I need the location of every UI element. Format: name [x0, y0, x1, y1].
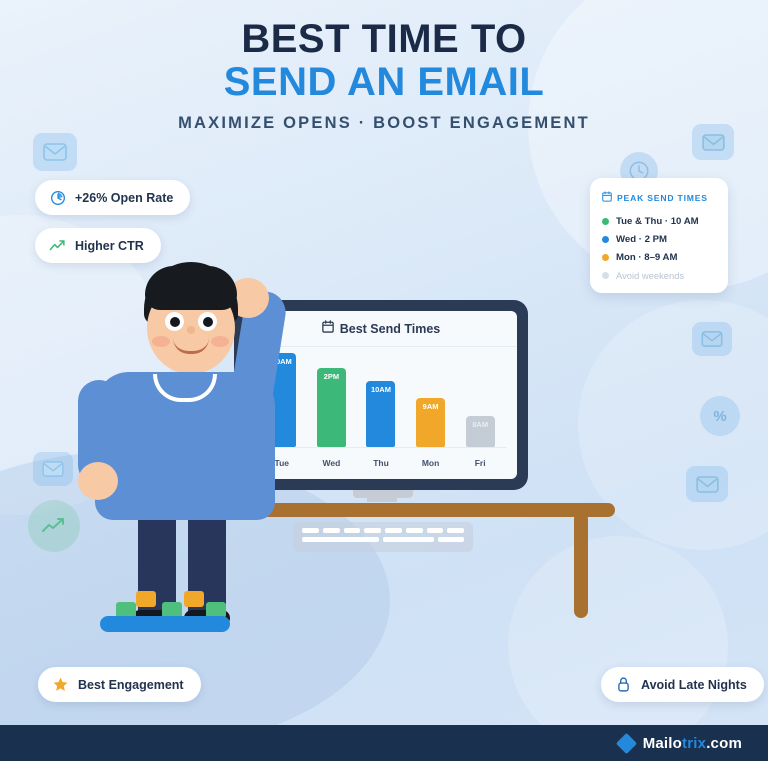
- keyboard-key: [364, 528, 381, 533]
- mail-icon: [686, 466, 728, 502]
- brand-part-2: trix: [682, 735, 706, 752]
- legend-dot: [602, 236, 609, 243]
- keyboard-key: [406, 528, 423, 533]
- background-blob-bottom-right: [508, 536, 728, 756]
- title-line-1: BEST TIME TO: [0, 18, 768, 61]
- platform-block: [184, 591, 204, 607]
- keyboard: [293, 522, 473, 552]
- trend-up-icon: [49, 237, 66, 254]
- brand-diamond-icon: [616, 732, 637, 753]
- peak-card-header: PEAK SEND TIMES: [602, 189, 716, 207]
- peak-row: Tue & Thu · 10 AM: [602, 216, 716, 227]
- peak-row-label: Avoid weekends: [616, 270, 684, 281]
- brand-part-1: Mailo: [643, 735, 682, 752]
- keyboard-key: [383, 537, 434, 542]
- keyboard-row: [302, 537, 464, 542]
- keyboard-key: [427, 528, 444, 533]
- legend-dot: [602, 218, 609, 225]
- bar-fri: 8AM: [466, 416, 495, 447]
- desk-leg: [574, 512, 588, 618]
- infographic-canvas: BEST TIME TO SEND AN EMAIL MAXIMIZE OPEN…: [0, 0, 768, 761]
- character-nose: [187, 326, 195, 334]
- peak-card-title: PEAK SEND TIMES: [617, 193, 708, 203]
- bar-column: 9AM: [414, 353, 448, 447]
- percent-glyph: %: [713, 408, 726, 425]
- keyboard-key: [447, 528, 464, 533]
- badge-best-engagement[interactable]: Best Engagement: [38, 667, 201, 702]
- platform-block: [136, 591, 156, 607]
- percent-icon: %: [700, 396, 740, 436]
- badge-higher-ctr[interactable]: Higher CTR: [35, 228, 161, 263]
- character-left-hand: [78, 462, 118, 500]
- badge-label: Avoid Late Nights: [641, 678, 747, 692]
- bar-value-label: 10AM: [371, 385, 391, 447]
- keyboard-row: [302, 528, 464, 533]
- mail-icon: [33, 133, 77, 171]
- bar-thu: 10AM: [366, 381, 395, 447]
- badge-label: Higher CTR: [75, 239, 144, 253]
- peak-row: Wed · 2 PM: [602, 234, 716, 245]
- bar-value-label: 9AM: [423, 402, 439, 447]
- keyboard-key: [438, 537, 464, 542]
- character-cheek-right: [211, 336, 229, 347]
- brand-wordmark: Mailotrix.com: [643, 735, 742, 752]
- character-eye-right: [198, 312, 217, 331]
- character-hair-top: [145, 266, 237, 310]
- character-eye-left: [165, 312, 184, 331]
- peak-row-label: Mon · 8–9 AM: [616, 252, 677, 263]
- badge-open-rate[interactable]: +26% Open Rate: [35, 180, 190, 215]
- peak-row-label: Wed · 2 PM: [616, 234, 667, 245]
- character-cheek-left: [152, 336, 170, 347]
- bar-value-label: 2PM: [324, 372, 339, 447]
- platform-base: [100, 616, 230, 632]
- keyboard-key: [344, 528, 361, 533]
- category-label: Wed: [322, 458, 340, 468]
- mail-icon: [33, 452, 73, 486]
- bar-column: 10AM: [364, 353, 398, 447]
- bar-column: 8AM: [463, 353, 497, 447]
- category-label: Thu: [373, 458, 389, 468]
- keyboard-key: [385, 528, 402, 533]
- category-label: Mon: [422, 458, 439, 468]
- lock-icon: [615, 676, 632, 693]
- bar-value-label: 8AM: [472, 420, 488, 447]
- footer-bar: Mailotrix.com: [0, 725, 768, 761]
- peak-row: Mon · 8–9 AM: [602, 252, 716, 263]
- category-label: Fri: [475, 458, 486, 468]
- calendar-icon: [322, 320, 334, 338]
- badge-label: Best Engagement: [78, 678, 184, 692]
- badge-label: +26% Open Rate: [75, 191, 173, 205]
- brand-part-3: .com: [706, 735, 742, 752]
- bar-wed: 2PM: [317, 368, 346, 447]
- keyboard-key: [323, 528, 340, 533]
- title-line-2: SEND AN EMAIL: [0, 61, 768, 104]
- peak-row: Avoid weekends: [602, 270, 716, 281]
- mail-icon: [692, 124, 734, 160]
- star-icon: [52, 676, 69, 693]
- page-header: BEST TIME TO SEND AN EMAIL MAXIMIZE OPEN…: [0, 18, 768, 133]
- legend-dot: [602, 254, 609, 261]
- clock-icon: [49, 189, 66, 206]
- badge-avoid-late-nights[interactable]: Avoid Late Nights: [601, 667, 764, 702]
- character-illustration: [70, 262, 320, 637]
- peak-send-times-card: PEAK SEND TIMES Tue & Thu · 10 AM Wed · …: [590, 178, 728, 293]
- legend-dot: [602, 272, 609, 279]
- peak-row-label: Tue & Thu · 10 AM: [616, 216, 699, 227]
- calendar-icon: [602, 189, 612, 207]
- mail-icon: [692, 322, 732, 356]
- screen-title: Best Send Times: [340, 322, 441, 336]
- page-subtitle: MAXIMIZE OPENS · BOOST ENGAGEMENT: [0, 114, 768, 133]
- bar-mon: 9AM: [416, 398, 445, 447]
